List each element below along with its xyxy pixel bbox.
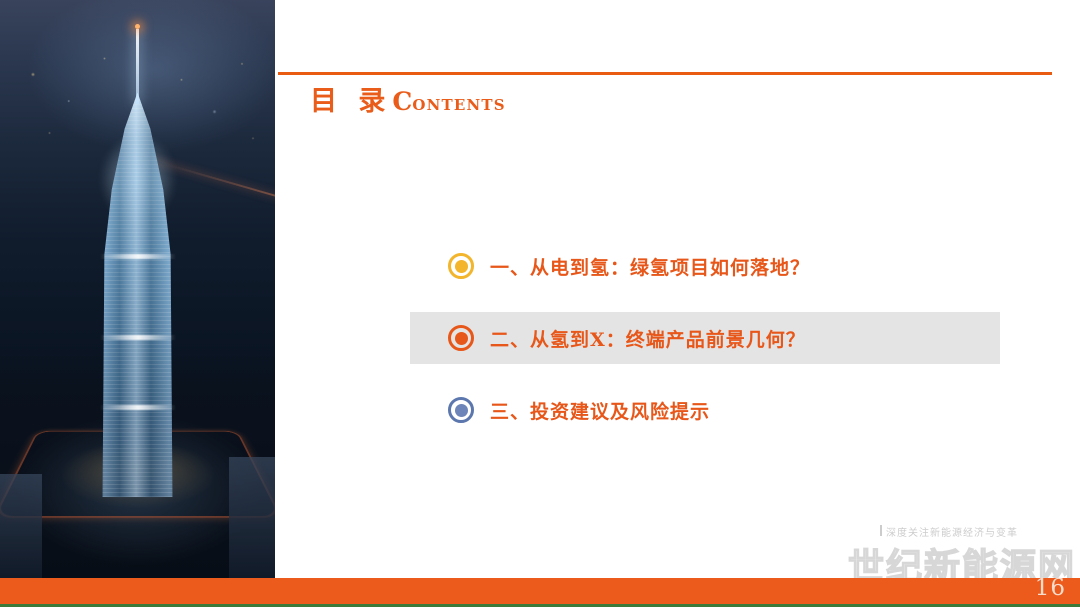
radio-bullet-icon	[448, 253, 474, 279]
watermark-tagline: 深度关注新能源经济与变革	[886, 524, 1018, 539]
page-title-english-initial: C	[392, 87, 412, 116]
presentation-slide: 目 录 C ONTENTS 一、从电到氢：绿氢项目如何落地？ 二、从氢到X：终端…	[0, 0, 1080, 607]
table-of-contents: 一、从电到氢：绿氢项目如何落地？ 二、从氢到X：终端产品前景几何？ 三、投资建议…	[410, 240, 1000, 456]
photo-tower-band-mid	[100, 335, 176, 340]
photo-lowrise-left	[0, 474, 42, 578]
footer-bar	[0, 578, 1080, 604]
toc-item-1[interactable]: 一、从电到氢：绿氢项目如何落地？	[410, 240, 1000, 292]
page-title: 目 录 C ONTENTS	[310, 79, 506, 118]
photo-tower-band-lower	[100, 405, 176, 410]
page-number: 16	[1035, 575, 1066, 601]
photo-tower-band-upper	[100, 254, 176, 259]
photo-tower-spire	[136, 29, 139, 104]
toc-item-label: 二、从氢到X：终端产品前景几何？	[490, 325, 806, 352]
toc-item-label: 三、投资建议及风险提示	[490, 397, 710, 424]
photo-lowrise-right	[229, 457, 275, 578]
radio-bullet-icon	[448, 397, 474, 423]
page-title-chinese: 目 录	[310, 79, 391, 118]
night-cityscape-skyscraper-photo	[0, 0, 275, 578]
toc-item-2[interactable]: 二、从氢到X：终端产品前景几何？	[410, 312, 1000, 364]
radio-bullet-icon	[448, 325, 474, 351]
header-divider-rule	[278, 72, 1052, 75]
toc-item-label: 一、从电到氢：绿氢项目如何落地？	[490, 253, 810, 280]
toc-item-3[interactable]: 三、投资建议及风险提示	[410, 384, 1000, 436]
page-title-english-rest: ONTENTS	[412, 96, 505, 114]
